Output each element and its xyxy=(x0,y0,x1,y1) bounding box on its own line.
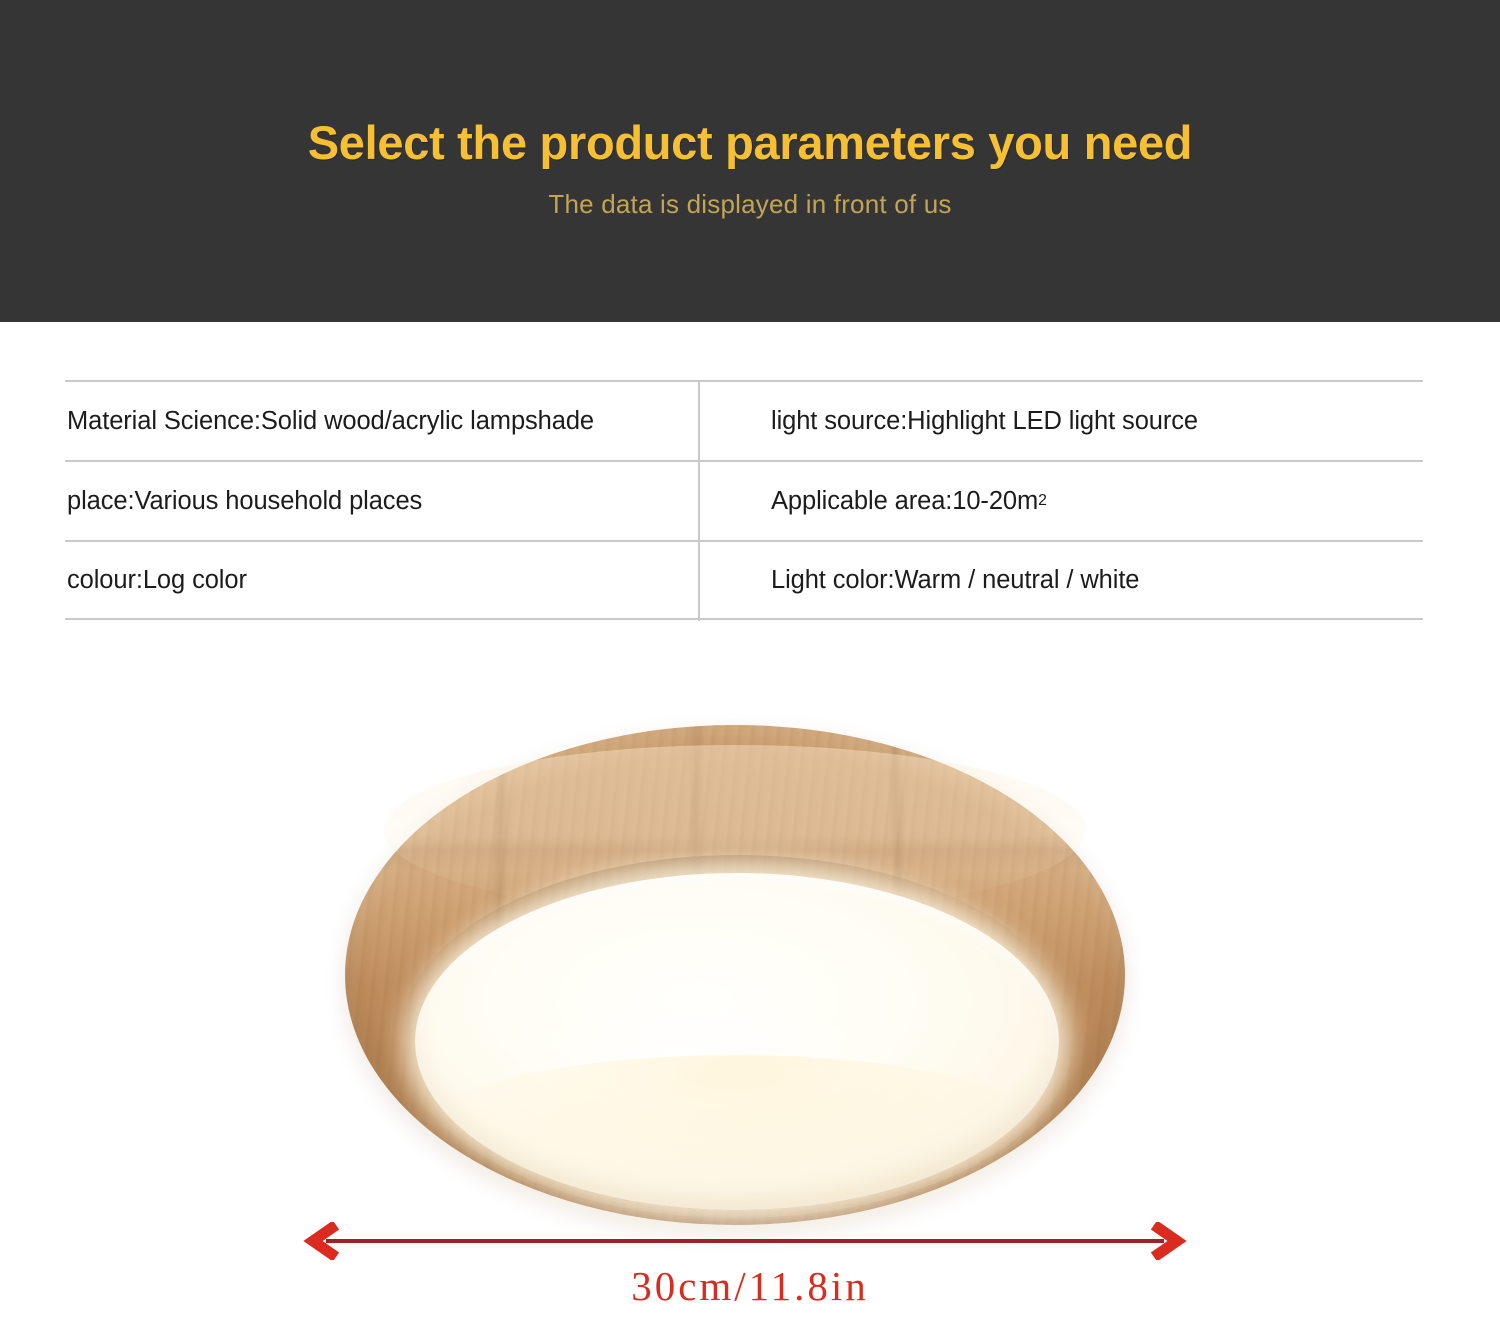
dimension-arrow-icon xyxy=(300,1222,1190,1260)
spec-applicable-area: Applicable area:10-20m2 xyxy=(698,462,1423,540)
product-parameters-page: Select the product parameters you need T… xyxy=(0,0,1500,1321)
spec-applicable-area-text: Applicable area:10-20m xyxy=(771,487,1038,516)
table-row: place:Various household places Applicabl… xyxy=(65,460,1423,540)
spec-light-color: Light color:Warm / neutral / white xyxy=(698,542,1423,618)
page-title: Select the product parameters you need xyxy=(308,118,1192,167)
header-banner: Select the product parameters you need T… xyxy=(0,0,1500,322)
specification-table: Material Science:Solid wood/acrylic lamp… xyxy=(65,380,1423,621)
spec-place: place:Various household places xyxy=(65,462,698,540)
table-row: Material Science:Solid wood/acrylic lamp… xyxy=(65,380,1423,460)
spec-light-source: light source:Highlight LED light source xyxy=(698,382,1423,460)
dimension-label: 30cm/11.8in xyxy=(0,1262,1500,1310)
product-image-stage xyxy=(0,660,1500,1260)
spec-material: Material Science:Solid wood/acrylic lamp… xyxy=(65,382,698,460)
light-spill xyxy=(423,1055,1047,1205)
page-subtitle: The data is displayed in front of us xyxy=(548,189,951,220)
spec-colour: colour:Log color xyxy=(65,542,698,618)
wooden-ceiling-lamp-image xyxy=(345,725,1125,1225)
table-row: colour:Log color Light color:Warm / neut… xyxy=(65,540,1423,620)
